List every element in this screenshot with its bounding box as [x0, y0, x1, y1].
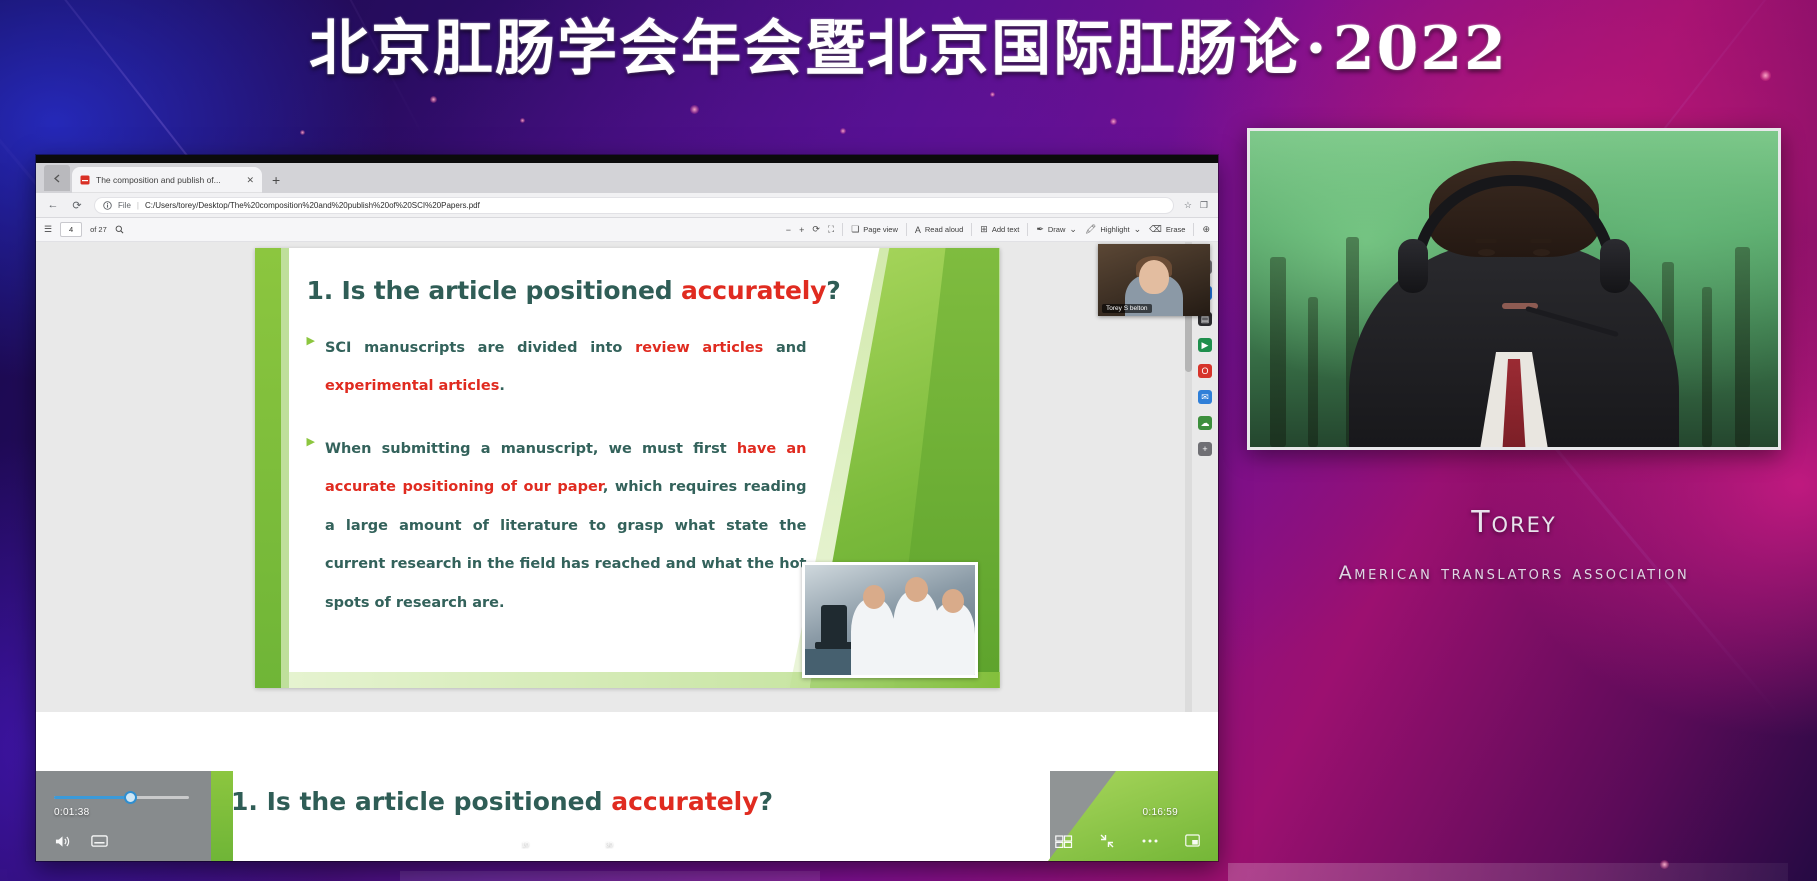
- pdf-tool-label: Draw: [1048, 225, 1066, 234]
- bullet-part: , which requires reading a large amount …: [325, 479, 807, 610]
- star-icon[interactable]: ☆: [1184, 200, 1192, 211]
- pdf-page: 1. Is the article positioned accurately?…: [255, 248, 1000, 688]
- bullet-part: .: [499, 378, 505, 394]
- rewind-10-icon[interactable]: 10: [516, 833, 534, 849]
- omnibox-separator: |: [137, 201, 139, 210]
- plus-icon[interactable]: +: [1198, 442, 1212, 456]
- self-view-head: [1139, 260, 1169, 294]
- player-transport-controls: 10 30: [516, 832, 619, 849]
- pdf-tool-draw[interactable]: ✒ Draw ⌄: [1036, 224, 1077, 235]
- toolbar-divider: [1027, 223, 1028, 236]
- player-left-controls: [54, 834, 108, 849]
- bullet-part: SCI manuscripts are divided into: [325, 340, 635, 356]
- headphone-earcup: [1398, 239, 1428, 293]
- browser-tab-strip: The composition and publish of... ✕ +: [36, 163, 1218, 193]
- seek-bar-progress: [54, 796, 130, 799]
- play-pause-icon[interactable]: [560, 832, 575, 849]
- bullet-text: SCI manuscripts are divided into review …: [325, 329, 807, 406]
- slide-peek-background: [233, 771, 1050, 861]
- slide-title-main: 1. Is the article positioned: [307, 276, 681, 305]
- player-right-controls: [969, 833, 1200, 849]
- toolbar-divider: [1193, 223, 1194, 236]
- toolbar-divider: [971, 223, 972, 236]
- spark-particle: [690, 105, 699, 114]
- toolbar-divider: [906, 223, 907, 236]
- pdf-tool-erase[interactable]: ⌫ Erase: [1149, 224, 1185, 235]
- pdf-favicon: [80, 175, 90, 185]
- slide-peek-left-bar: [211, 771, 233, 861]
- captions-icon[interactable]: [91, 835, 108, 848]
- chevron-down-icon[interactable]: ⌄: [1134, 224, 1142, 235]
- spark-particle: [1110, 118, 1117, 125]
- rotate-button[interactable]: ⟳: [812, 224, 820, 235]
- cloud-icon[interactable]: ☁: [1198, 416, 1212, 430]
- speaker-name: Torey: [1247, 505, 1781, 540]
- slide-peek-title: 1. Is the article positioned accurately?: [231, 787, 773, 816]
- event-title-bar: 北京肛肠学会年会暨北京国际肛肠论 · 2022: [0, 8, 1817, 90]
- headphone-earcup: [1600, 239, 1630, 293]
- microscope-shape: [821, 605, 847, 649]
- speaker-organization: American translators association: [1247, 562, 1781, 584]
- browser-tab[interactable]: The composition and publish of... ✕: [72, 167, 262, 193]
- sidebar-toggle-button[interactable]: ☰: [44, 224, 52, 235]
- bottom-light-strip: [1228, 863, 1788, 881]
- bullet-text: When submitting a manuscript, we must fi…: [325, 430, 807, 622]
- erase-icon: ⌫: [1149, 224, 1162, 235]
- shared-screen-panel: The composition and publish of... ✕ + ← …: [36, 155, 1218, 861]
- bullet-part-accent: experimental articles: [325, 378, 499, 394]
- event-title-separator: ·: [1306, 8, 1329, 90]
- peek-title-main: 1. Is the article positioned: [231, 787, 611, 816]
- browser-tab-title: The composition and publish of...: [96, 175, 238, 185]
- volume-icon[interactable]: [54, 834, 71, 849]
- total-time-label: 0:16:59: [1143, 807, 1178, 818]
- spark-particle: [990, 92, 995, 97]
- pdf-tool-label: Page view: [863, 225, 898, 234]
- spark-particle: [520, 118, 525, 123]
- search-icon[interactable]: [115, 225, 124, 234]
- pdf-tool-highlight[interactable]: 🖍 Highlight ⌄: [1085, 224, 1141, 235]
- pdf-tool-label: Read aloud: [925, 225, 963, 234]
- chevron-down-icon[interactable]: ⌄: [1069, 224, 1077, 235]
- background-tree: [1270, 257, 1286, 447]
- speaker-video-frame[interactable]: [1247, 128, 1781, 450]
- highlight-icon: 🖍: [1085, 224, 1096, 235]
- bullet-part: When submitting a manuscript, we must fi…: [325, 441, 737, 457]
- more-options-icon[interactable]: [1141, 838, 1159, 844]
- photo-person: [851, 599, 895, 678]
- omnibox-scheme-label: File: [118, 201, 131, 210]
- info-icon: [103, 201, 112, 210]
- pdf-tool-read-aloud[interactable]: A Read aloud: [915, 225, 963, 235]
- omnibox-url-text: C:/Users/torey/Desktop/The%20composition…: [145, 201, 480, 210]
- save-icon[interactable]: ⊕: [1202, 224, 1210, 235]
- slide-bullet: ▶ When submitting a manuscript, we must …: [307, 430, 807, 622]
- forward-30-icon[interactable]: 30: [601, 833, 619, 849]
- page-total-label: of 27: [90, 225, 107, 234]
- photo-person-head: [942, 589, 964, 613]
- background-tree: [1308, 297, 1318, 447]
- seek-bar[interactable]: [54, 796, 189, 799]
- zoom-in-button[interactable]: +: [799, 225, 804, 235]
- window-top-black-bar: [36, 155, 1218, 163]
- pdf-tool-add-text[interactable]: ⊞ Add text: [980, 224, 1019, 235]
- back-button[interactable]: ←: [46, 199, 60, 211]
- background-tree: [1702, 287, 1712, 447]
- svg-text:30: 30: [606, 842, 613, 848]
- peek-title-accent: accurately: [611, 787, 758, 816]
- back-arrow-icon: [52, 173, 63, 184]
- slide-bullet: ▶ SCI manuscripts are divided into revie…: [307, 329, 807, 406]
- omnibox-actions: ☆ ❐: [1184, 200, 1208, 211]
- gallery-view-icon[interactable]: [1055, 834, 1073, 849]
- pdf-toolbar: ☰ 4 of 27 − + ⟳ ⛶ ❏ Page view: [36, 218, 1218, 242]
- pdf-tool-page-view[interactable]: ❏ Page view: [851, 224, 898, 235]
- add-text-icon: ⊞: [980, 224, 988, 235]
- exit-fullscreen-icon[interactable]: [1099, 833, 1115, 849]
- photo-person-head: [905, 577, 928, 602]
- slide-title-end: ?: [826, 276, 840, 305]
- self-view-thumbnail[interactable]: Torey S belton: [1098, 244, 1210, 316]
- reload-button[interactable]: ⟳: [70, 199, 84, 212]
- background-tree: [1735, 247, 1750, 447]
- slide-title-accent: accurately: [681, 276, 826, 305]
- url-omnibox[interactable]: File | C:/Users/torey/Desktop/The%20comp…: [94, 197, 1174, 214]
- play-icon[interactable]: ▶: [1198, 338, 1212, 352]
- seek-bar-handle[interactable]: [124, 791, 137, 804]
- collections-icon[interactable]: ❐: [1200, 200, 1208, 211]
- bullet-marker-icon: ▶: [307, 432, 315, 622]
- pdf-tool-label: Highlight: [1100, 225, 1129, 234]
- opera-icon[interactable]: O: [1198, 364, 1212, 378]
- zoom-out-button[interactable]: −: [786, 225, 791, 235]
- window-control-button[interactable]: [44, 165, 70, 191]
- mail-icon[interactable]: ✉: [1198, 390, 1212, 404]
- photo-person-head: [863, 585, 885, 609]
- pdf-tool-label: Erase: [1166, 225, 1186, 234]
- spark-particle: [300, 130, 305, 135]
- event-title-chinese: 北京肛肠学会年会暨北京国际肛肠论: [309, 8, 1301, 90]
- toolbar-divider: [842, 223, 843, 236]
- share-screen-icon[interactable]: [1011, 834, 1029, 849]
- svg-text:10: 10: [522, 842, 529, 848]
- bullet-marker-icon: ▶: [307, 331, 315, 406]
- event-title-year: 2022: [1333, 8, 1508, 90]
- lab-researchers-photo: [802, 562, 978, 678]
- pdf-viewport[interactable]: 1. Is the article positioned accurately?…: [36, 242, 1218, 712]
- slide-title: 1. Is the article positioned accurately?: [307, 276, 964, 305]
- pdf-tool-label: Add text: [992, 225, 1020, 234]
- bullet-part: and: [763, 340, 806, 356]
- draw-icon: ✒: [1036, 224, 1044, 235]
- fit-page-button[interactable]: ⛶: [828, 224, 834, 235]
- video-player-controls: 1. Is the article positioned accurately?…: [36, 771, 1218, 861]
- read-aloud-icon: A: [915, 225, 921, 235]
- bullet-part-accent: review articles: [635, 340, 763, 356]
- page-view-icon: ❏: [851, 224, 859, 235]
- browser-chrome: The composition and publish of... ✕ + ← …: [36, 163, 1218, 242]
- annotate-icon[interactable]: [969, 833, 985, 849]
- page-number-input[interactable]: 4: [60, 222, 82, 237]
- self-view-name-label: Torey S belton: [1102, 304, 1152, 313]
- current-time-label: 0:01:38: [54, 807, 89, 818]
- peek-title-end: ?: [759, 787, 774, 816]
- pip-toggle-icon[interactable]: [1185, 834, 1200, 848]
- broadcast-stage: 北京肛肠学会年会暨北京国际肛肠论 · 2022 The composition …: [0, 0, 1817, 881]
- tab-close-icon[interactable]: ✕: [244, 175, 256, 186]
- photo-person: [931, 603, 975, 678]
- bottom-light-strip: [400, 871, 820, 881]
- browser-address-bar: ← ⟳ File | C:/Users/torey/Desktop/The%20…: [36, 193, 1218, 218]
- new-tab-button[interactable]: +: [262, 167, 290, 193]
- spark-particle: [430, 96, 437, 103]
- spark-particle: [840, 128, 846, 134]
